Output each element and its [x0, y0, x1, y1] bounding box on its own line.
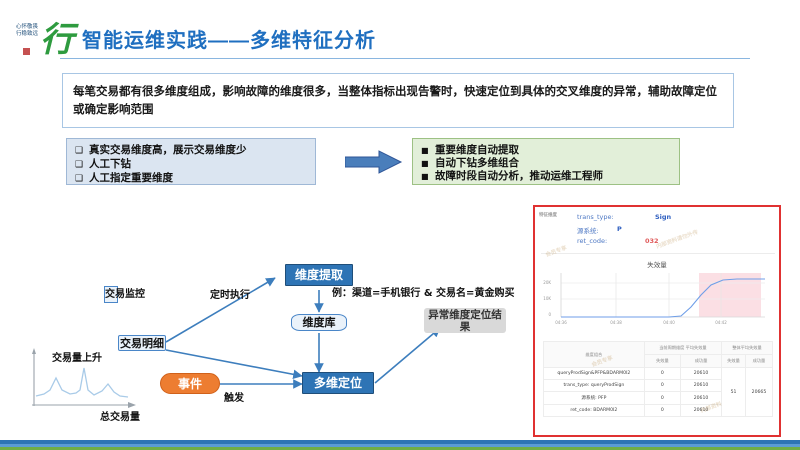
node-dim-store: 维度库: [291, 314, 347, 331]
row-fail: 0: [644, 392, 680, 405]
logo-seal-icon: [23, 48, 30, 55]
chart-xtick-1: 04:38: [606, 320, 626, 325]
field-key-ret-code: ret_code:: [577, 237, 607, 245]
row-succ: 20610: [681, 368, 722, 380]
feature-dimension-label: 特征维度: [539, 212, 557, 218]
slide-canvas: 心怀敬畏 行稳致远 行 智能运维实践——多维特征分析 每笔交易都有很多维度组成，…: [0, 0, 800, 450]
list-item: 重要维度自动提取: [421, 144, 671, 157]
row-succ: 20610: [681, 380, 722, 392]
watermark: 会员专享: [544, 243, 567, 258]
panel-divider: [541, 253, 775, 254]
col-current-period: 当前周期维度 平均失效量: [644, 342, 721, 355]
title-divider: [60, 58, 750, 59]
chart-xtick-3: 04:42: [711, 320, 731, 325]
row-fail: 0: [644, 405, 680, 417]
flow-diagram: 交易监控 交易明细 维度提取 维度库 多维定位 事件 异常维度定位结果 定时执行…: [20, 250, 520, 425]
row-fail: 0: [644, 368, 680, 380]
node-trans-monitor: 交易监控: [104, 286, 118, 303]
example-text: 例：渠道=手机银行 & 交易名=黄金购买: [332, 284, 514, 299]
list-item: 真实交易维度高，展示交易维度少: [75, 144, 307, 158]
row-label: 源系统: PFP: [544, 392, 645, 405]
chart-ytick-2: 0: [537, 312, 551, 317]
row-label: ret_code: BDARM0I2: [544, 405, 645, 417]
intro-paragraph: 每笔交易都有很多维度组成，影响故障的维度很多，当整体指标出现告警时，快速定位到具…: [62, 73, 734, 128]
target-state-box: 重要维度自动提取 自动下钻多维组合 故障时段自动分析，推动运维工程师: [412, 138, 680, 185]
field-value-source-system: P: [617, 225, 622, 233]
row-succ: 20610: [681, 392, 722, 405]
edge-label-scheduled: 定时执行: [210, 286, 250, 301]
merged-overall-fail: 51: [722, 368, 746, 417]
row-label: queryProdSign&PFP&BDARM0I2: [544, 368, 645, 380]
sparkline-xaxis-label: 总交易量: [100, 408, 140, 423]
current-state-box: 真实交易维度高，展示交易维度少 人工下钻 人工指定重要维度: [66, 138, 316, 185]
chart-xtick-0: 04:36: [551, 320, 571, 325]
edge-label-trigger: 触发: [224, 389, 244, 404]
node-event: 事件: [160, 373, 220, 394]
chart-xtick-2: 04:40: [659, 320, 679, 325]
node-dim-extract: 维度提取: [285, 264, 353, 286]
node-result: 异常维度定位结果: [424, 308, 506, 333]
watermark: 内部资料请勿外传: [655, 228, 699, 251]
row-label: trans_type: queryProdSign: [544, 380, 645, 392]
chart-title: 失效量: [535, 259, 779, 269]
field-value-trans-type: Sign: [655, 213, 671, 221]
subcol-fail-1: 失效量: [644, 355, 680, 368]
node-trans-detail: 交易明细: [118, 335, 166, 351]
analysis-screenshot-panel[interactable]: 特征维度 trans_type: Sign 源系统: P ret_code: 0…: [533, 205, 781, 437]
dimension-result-table: 维度组合 当前周期维度 平均失效量 整体平均失效量 失效量 成功量 失效量 成功…: [543, 341, 773, 417]
list-item: 人工下钻: [75, 158, 307, 172]
chart-ytick-0: 20K: [537, 280, 551, 285]
list-item: 故障时段自动分析，推动运维工程师: [421, 170, 671, 183]
field-key-source-system: 源系统:: [577, 225, 599, 235]
logo-calligraphy-text: 心怀敬畏 行稳致远: [14, 24, 40, 37]
row-fail: 0: [644, 380, 680, 392]
table-group-header-row: 维度组合 当前周期维度 平均失效量 整体平均失效量: [544, 342, 773, 355]
table-row: queryProdSign&PFP&BDARM0I2 0 20610 51 20…: [544, 368, 773, 380]
right-arrow-icon: [345, 150, 403, 174]
subcol-succ-2: 成功量: [745, 355, 772, 368]
field-key-trans-type: trans_type:: [577, 213, 614, 221]
field-value-ret-code: 032: [645, 237, 659, 245]
failure-volume-chart: [541, 269, 773, 327]
sparkline-caption: 交易量上升: [52, 349, 102, 364]
merged-overall-succ: 20665: [745, 368, 772, 417]
chart-ytick-1: 10K: [537, 296, 551, 301]
row-succ: 20610: [681, 405, 722, 417]
subcol-succ-1: 成功量: [681, 355, 722, 368]
list-item: 自动下钻多维组合: [421, 157, 671, 170]
flow-connectors: [20, 250, 520, 425]
node-multi-dim-locate: 多维定位: [302, 372, 374, 394]
subcol-fail-2: 失效量: [722, 355, 746, 368]
page-title: 智能运维实践——多维特征分析: [82, 24, 376, 53]
list-item: 人工指定重要维度: [75, 172, 307, 186]
col-dimension-combo: 维度组合: [544, 342, 645, 368]
col-overall-avg: 整体平均失效量: [722, 342, 773, 355]
